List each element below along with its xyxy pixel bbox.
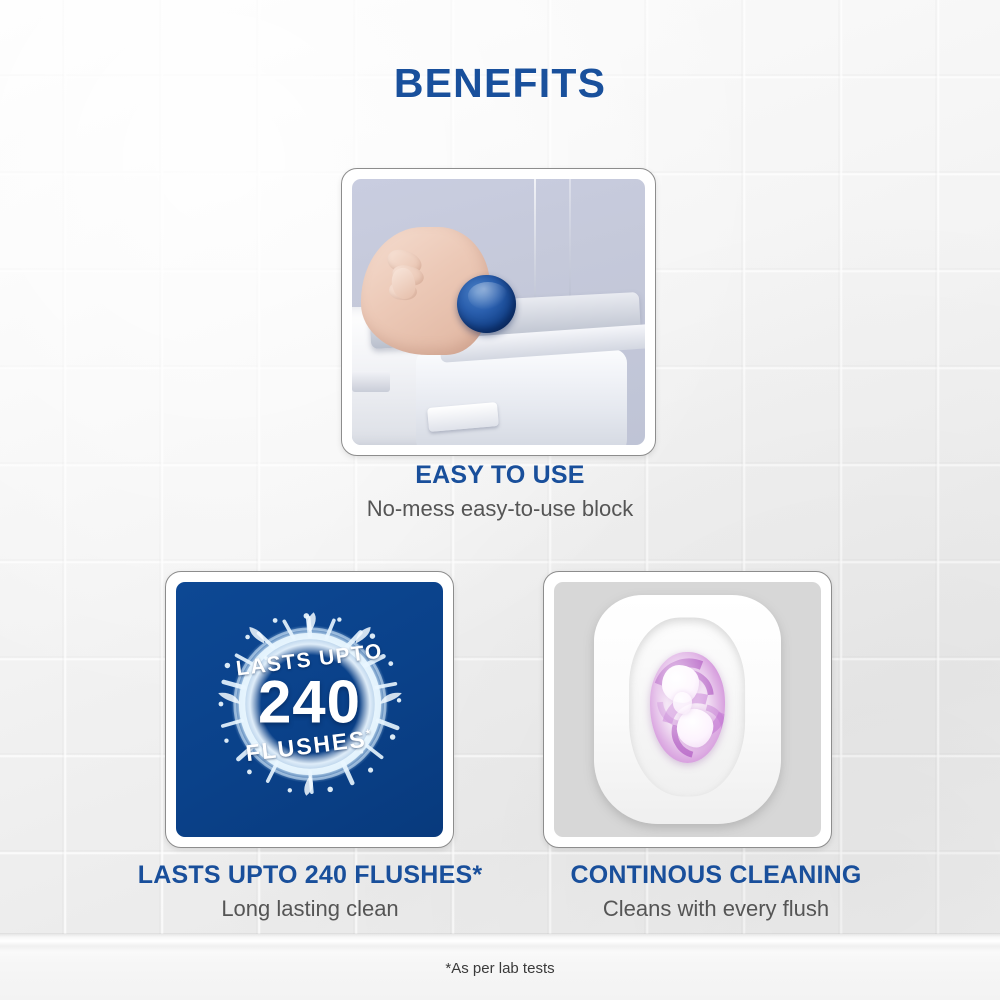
toilet-bowl-body xyxy=(416,349,627,445)
blue-cleaning-block xyxy=(457,275,516,334)
photo-hand-holding-block xyxy=(352,179,645,445)
benefit-card-lasts-240-flushes: LASTS UPTO 240 FLUSHES* xyxy=(165,571,454,848)
benefit-subtext: Long lasting clean xyxy=(110,895,510,923)
caption-easy-to-use: EASY TO USE No-mess easy-to-use block xyxy=(330,461,670,523)
page-title: BENEFITS xyxy=(0,60,1000,107)
benefit-headline: EASY TO USE xyxy=(330,461,670,490)
toilet-seat-top-view xyxy=(594,595,781,825)
toilet-bowl-rim xyxy=(630,618,746,797)
benefit-subtext: No-mess easy-to-use block xyxy=(330,495,670,523)
infographic-canvas: BENEFITS EASY TO USE No-mess easy-to-use… xyxy=(0,0,1000,1000)
water-splash-ring-icon xyxy=(213,613,405,797)
footnote-disclaimer: *As per lab tests xyxy=(0,960,1000,977)
toilet-hinge xyxy=(352,371,390,392)
benefit-card-easy-to-use xyxy=(341,168,656,456)
caption-lasts-240-flushes: LASTS UPTO 240 FLUSHES* Long lasting cle… xyxy=(110,861,510,923)
panel-240-flushes: LASTS UPTO 240 FLUSHES* xyxy=(176,582,443,837)
photo-toilet-bowl-purple-foam xyxy=(554,582,821,837)
caption-continous-cleaning: CONTINOUS CLEANING Cleans with every flu… xyxy=(516,861,916,923)
benefit-subtext: Cleans with every flush xyxy=(516,895,916,923)
benefit-card-continous-cleaning xyxy=(543,571,832,848)
bowl-water-with-foam xyxy=(650,652,724,763)
benefit-headline: CONTINOUS CLEANING xyxy=(516,861,916,890)
wall-seam-line xyxy=(569,179,571,312)
water-gloss-highlight xyxy=(650,652,724,763)
benefit-headline: LASTS UPTO 240 FLUSHES* xyxy=(110,861,510,890)
